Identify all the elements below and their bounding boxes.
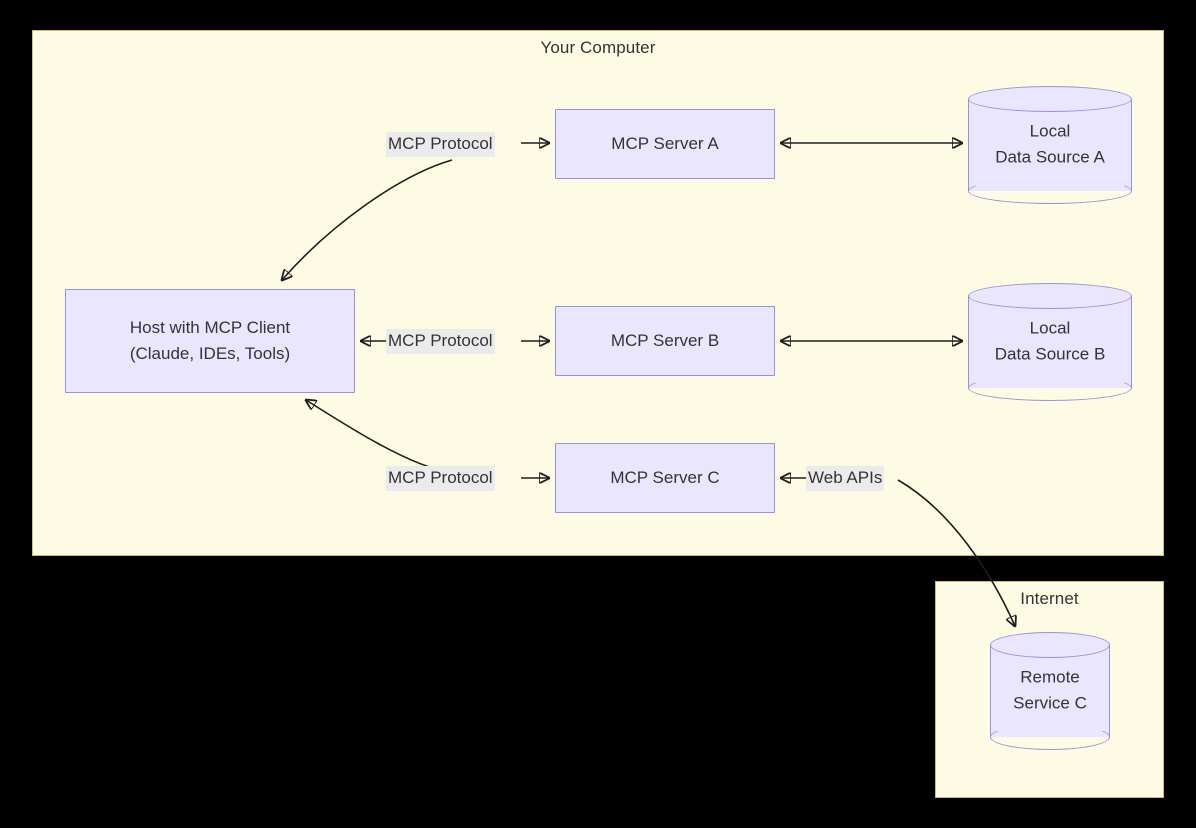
- cylinder-bottom-ellipse: [968, 178, 1132, 204]
- node-mcp-server-a[interactable]: MCP Server A: [555, 109, 775, 179]
- node-mcp-server-b[interactable]: MCP Server B: [555, 306, 775, 376]
- node-host-with-mcp-client[interactable]: Host with MCP Client (Claude, IDEs, Tool…: [65, 289, 355, 393]
- diagram-canvas: Your Computer Internet Host: [0, 0, 1196, 828]
- node-host-line-2: (Claude, IDEs, Tools): [130, 341, 290, 367]
- cylinder-top-ellipse: [990, 632, 1110, 658]
- node-mcp-server-c[interactable]: MCP Server C: [555, 443, 775, 513]
- edge-label-mcp-protocol-b: MCP Protocol: [386, 329, 495, 354]
- edge-label-mcp-protocol-a: MCP Protocol: [386, 132, 495, 157]
- node-remote-service-c[interactable]: Remote Service C: [990, 632, 1110, 750]
- node-host-line-1: Host with MCP Client: [130, 315, 290, 341]
- container-internet-title: Internet: [936, 589, 1163, 609]
- cylinder-top-ellipse: [968, 86, 1132, 112]
- node-mcp-server-c-label: MCP Server C: [610, 465, 719, 491]
- cylinder-top-ellipse: [968, 283, 1132, 309]
- node-mcp-server-b-label: MCP Server B: [611, 328, 719, 354]
- node-local-data-source-b[interactable]: Local Data Source B: [968, 283, 1132, 401]
- container-your-computer-title: Your Computer: [33, 38, 1163, 58]
- node-mcp-server-a-label: MCP Server A: [611, 131, 718, 157]
- node-local-data-source-a[interactable]: Local Data Source A: [968, 86, 1132, 204]
- edge-label-web-apis: Web APIs: [806, 466, 884, 491]
- cylinder-bottom-ellipse: [990, 724, 1110, 750]
- edge-label-mcp-protocol-c: MCP Protocol: [386, 466, 495, 491]
- cylinder-bottom-ellipse: [968, 375, 1132, 401]
